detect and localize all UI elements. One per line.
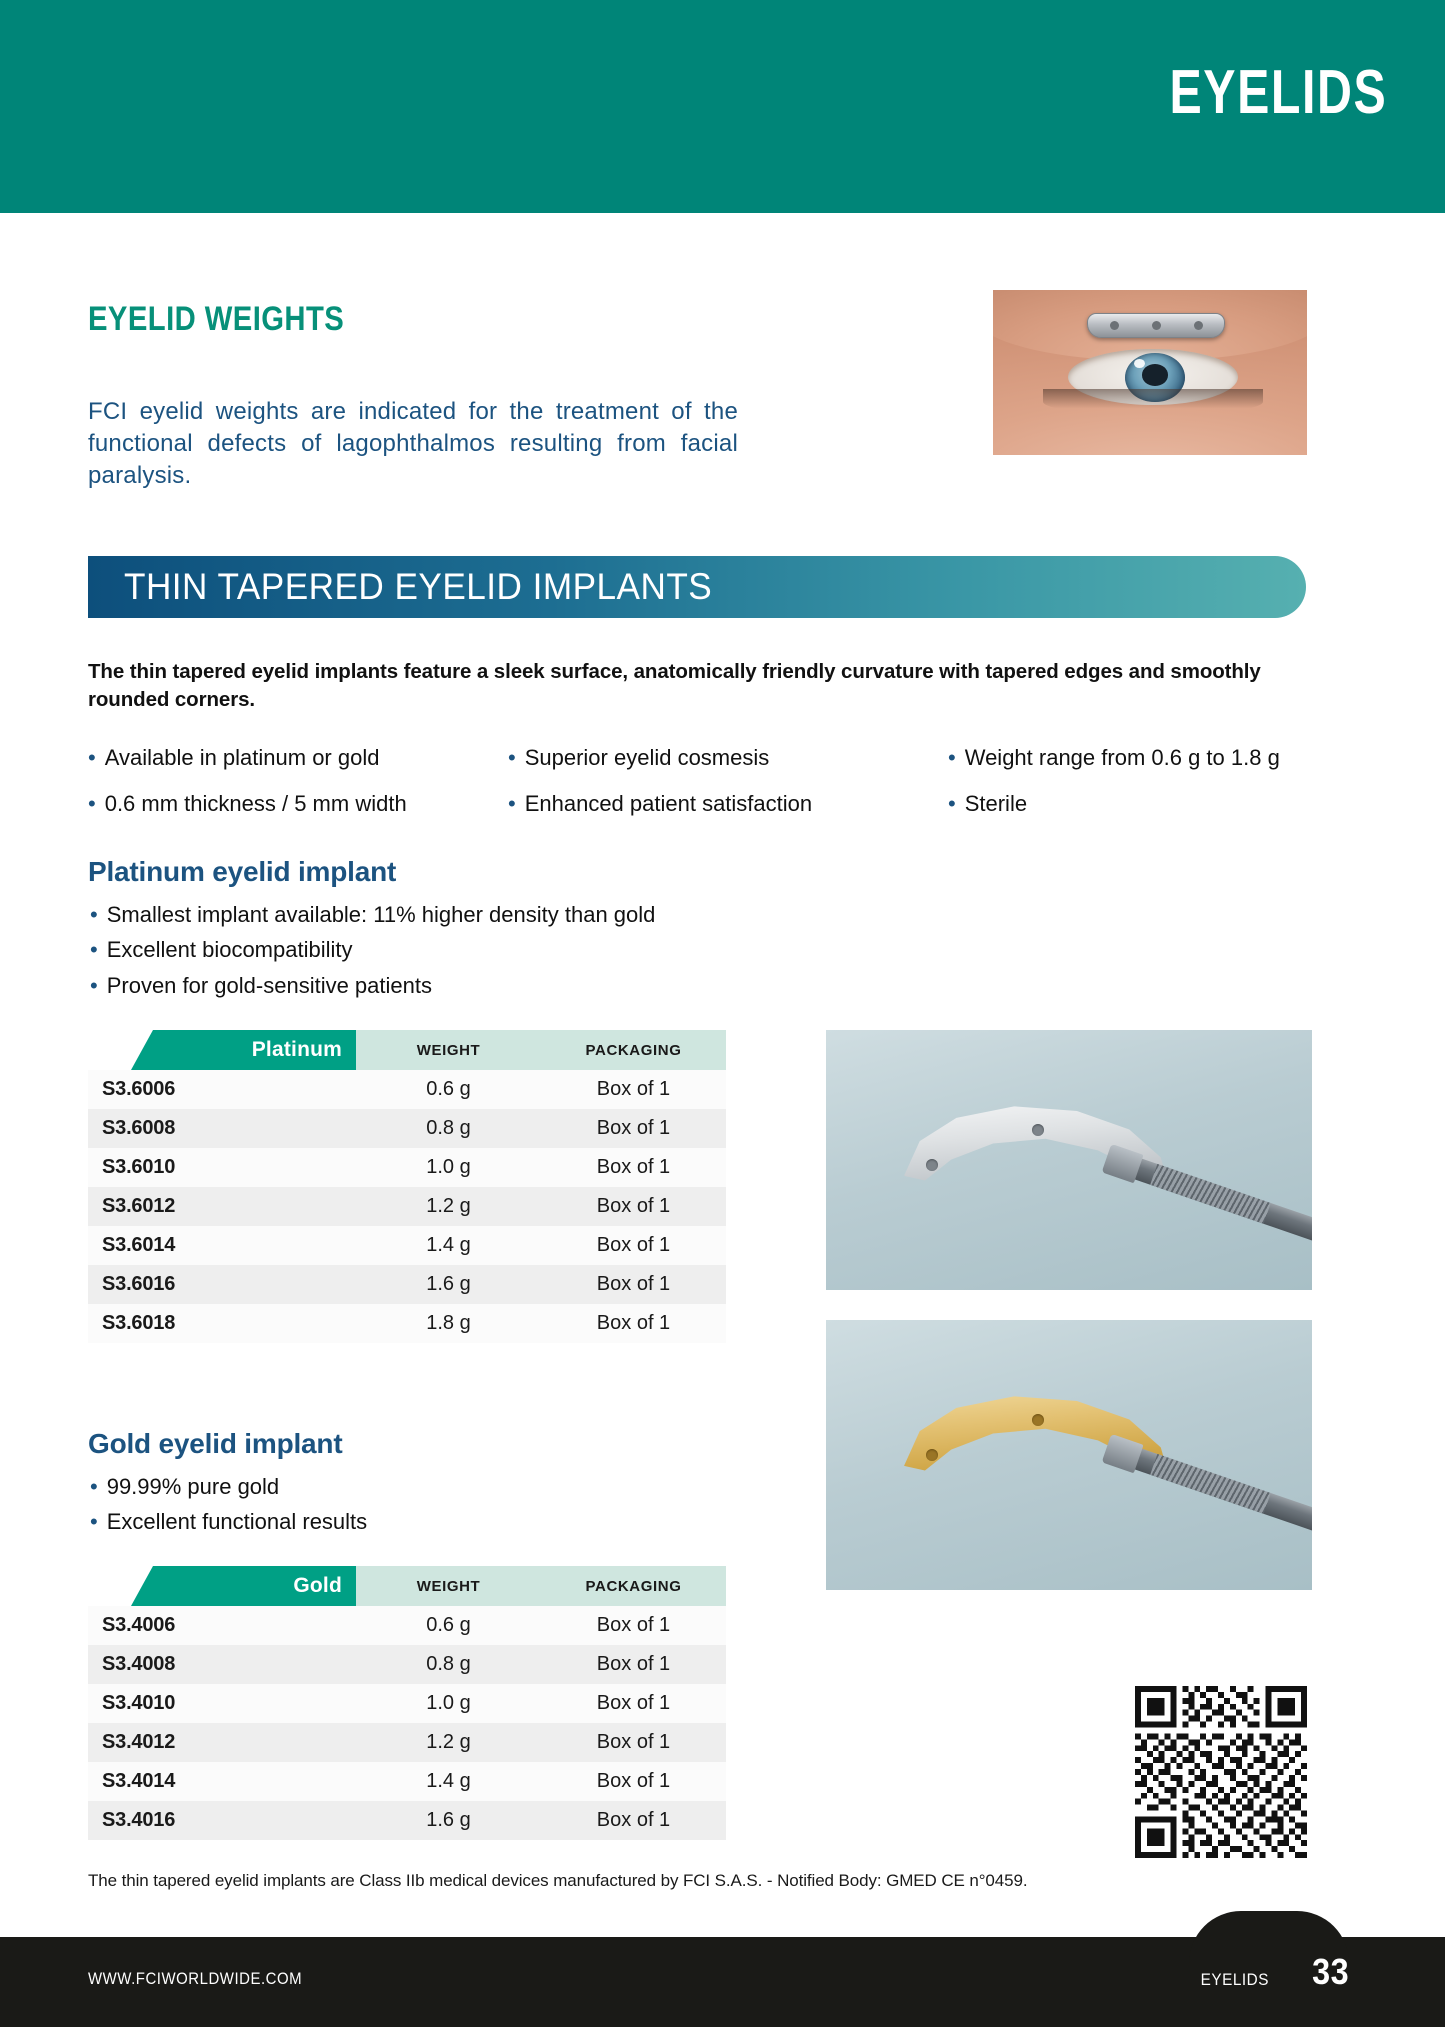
cell-reference: S3.6014: [88, 1226, 356, 1265]
cell-packaging: Box of 1: [541, 1723, 726, 1762]
platinum-brand-tab: Platinum: [88, 1030, 356, 1070]
cell-packaging: Box of 1: [541, 1645, 726, 1684]
table-row: S3.4006 0.6 g Box of 1: [88, 1606, 726, 1645]
platinum-bullet-list: • Smallest implant available: 11% higher…: [90, 902, 655, 1008]
list-item: • Excellent functional results: [90, 1509, 367, 1535]
feature-item: • Enhanced patient satisfaction: [508, 791, 948, 817]
product-lead-paragraph: The thin tapered eyelid implants feature…: [88, 658, 1310, 714]
cell-packaging: Box of 1: [541, 1684, 726, 1723]
implant-hole: [1194, 321, 1203, 330]
cell-weight: 0.8 g: [356, 1645, 541, 1684]
cell-reference: S3.6006: [88, 1070, 356, 1109]
cell-packaging: Box of 1: [541, 1148, 726, 1187]
table-row: S3.6010 1.0 g Box of 1: [88, 1148, 726, 1187]
table-row: S3.4016 1.6 g Box of 1: [88, 1801, 726, 1840]
list-item-label: Smallest implant available: 11% higher d…: [107, 902, 656, 928]
platinum-product-table: Platinum WEIGHT PACKAGING S3.6006 0.6 g …: [88, 1030, 726, 1343]
gold-product-table: Gold WEIGHT PACKAGING S3.4006 0.6 g Box …: [88, 1566, 726, 1840]
product-feature-list: • Available in platinum or gold • Superi…: [88, 745, 1313, 818]
cell-reference: S3.4016: [88, 1801, 356, 1840]
list-item-label: Excellent functional results: [107, 1509, 367, 1535]
footer-section-label: EYELIDS: [1201, 1970, 1269, 1990]
product-banner: THIN TAPERED EYELID IMPLANTS: [88, 556, 1306, 618]
forceps-grip: [1150, 1454, 1271, 1514]
feature-item: • Superior eyelid cosmesis: [508, 745, 948, 771]
regulatory-footnote: The thin tapered eyelid implants are Cla…: [88, 1871, 1238, 1891]
gold-brand-tab: Gold: [88, 1566, 356, 1606]
table-row: S3.6018 1.8 g Box of 1: [88, 1304, 726, 1343]
forceps-icon: [1116, 1430, 1312, 1557]
column-header-weight: WEIGHT: [356, 1030, 541, 1070]
feature-label: Weight range from 0.6 g to 1.8 g: [965, 745, 1280, 771]
footer-page-number: 33: [1312, 1951, 1349, 1993]
implant-hole: [926, 1449, 938, 1461]
feature-label: Superior eyelid cosmesis: [525, 745, 770, 771]
cell-packaging: Box of 1: [541, 1226, 726, 1265]
gold-heading: Gold eyelid implant: [88, 1428, 342, 1460]
cell-packaging: Box of 1: [541, 1187, 726, 1226]
page-footer: WWW.FCIWORLDWIDE.COM EYELIDS 33: [0, 1937, 1445, 2027]
feature-label: Sterile: [965, 791, 1027, 817]
bullet-icon: •: [90, 937, 98, 962]
table-row: S3.6006 0.6 g Box of 1: [88, 1070, 726, 1109]
cell-packaging: Box of 1: [541, 1801, 726, 1840]
cell-packaging: Box of 1: [541, 1265, 726, 1304]
bullet-icon: •: [90, 1474, 98, 1499]
list-item: • Proven for gold-sensitive patients: [90, 973, 655, 999]
list-item: • Smallest implant available: 11% higher…: [90, 902, 655, 928]
bullet-icon: •: [948, 745, 956, 770]
implant-hole: [1032, 1414, 1044, 1426]
cell-weight: 1.4 g: [356, 1226, 541, 1265]
cell-packaging: Box of 1: [541, 1109, 726, 1148]
cell-weight: 0.6 g: [356, 1070, 541, 1109]
bullet-icon: •: [90, 1509, 98, 1534]
table-header-row: Gold WEIGHT PACKAGING: [88, 1566, 726, 1606]
section-title-eyelid-weights: EYELID WEIGHTS: [88, 300, 344, 339]
platinum-heading: Platinum eyelid implant: [88, 856, 396, 888]
list-item-label: Excellent biocompatibility: [107, 937, 353, 963]
gold-bullet-list: • 99.99% pure gold • Excellent functiona…: [90, 1474, 367, 1545]
table-row: S3.4012 1.2 g Box of 1: [88, 1723, 726, 1762]
cell-weight: 1.0 g: [356, 1684, 541, 1723]
bullet-icon: •: [948, 791, 956, 816]
cell-weight: 1.2 g: [356, 1723, 541, 1762]
feature-label: Available in platinum or gold: [105, 745, 380, 771]
cell-weight: 1.2 g: [356, 1187, 541, 1226]
table-row: S3.6012 1.2 g Box of 1: [88, 1187, 726, 1226]
list-item: • Excellent biocompatibility: [90, 937, 655, 963]
table-row: S3.4014 1.4 g Box of 1: [88, 1762, 726, 1801]
list-item: • 99.99% pure gold: [90, 1474, 367, 1500]
cell-weight: 1.8 g: [356, 1304, 541, 1343]
bullet-icon: •: [508, 745, 516, 770]
forceps-grip: [1150, 1164, 1271, 1224]
bullet-icon: •: [90, 973, 98, 998]
cell-reference: S3.6012: [88, 1187, 356, 1226]
table-header-row: Platinum WEIGHT PACKAGING: [88, 1030, 726, 1070]
brand-tab-label: Gold: [293, 1574, 356, 1598]
cell-reference: S3.4010: [88, 1684, 356, 1723]
list-item-label: 99.99% pure gold: [107, 1474, 279, 1500]
eye-pupil: [1142, 364, 1168, 385]
cell-packaging: Box of 1: [541, 1070, 726, 1109]
cell-reference: S3.4014: [88, 1762, 356, 1801]
implant-hole: [1152, 321, 1161, 330]
feature-item: • 0.6 mm thickness / 5 mm width: [88, 791, 508, 817]
qr-code-icon[interactable]: [1135, 1686, 1307, 1858]
feature-item: • Available in platinum or gold: [88, 745, 508, 771]
cell-weight: 0.8 g: [356, 1109, 541, 1148]
table-row: S3.6016 1.6 g Box of 1: [88, 1265, 726, 1304]
cell-reference: S3.4008: [88, 1645, 356, 1684]
list-item-label: Proven for gold-sensitive patients: [107, 973, 432, 999]
footer-website-url[interactable]: WWW.FCIWORLDWIDE.COM: [88, 1969, 302, 1989]
cell-weight: 1.4 g: [356, 1762, 541, 1801]
eyelid-weight-implant-on-lid: [1087, 313, 1225, 338]
implant-hole: [926, 1159, 938, 1171]
cell-weight: 1.0 g: [356, 1148, 541, 1187]
cell-reference: S3.4012: [88, 1723, 356, 1762]
bullet-icon: •: [88, 791, 96, 816]
bullet-icon: •: [90, 902, 98, 927]
table-row: S3.6014 1.4 g Box of 1: [88, 1226, 726, 1265]
bullet-icon: •: [88, 745, 96, 770]
cell-reference: S3.6018: [88, 1304, 356, 1343]
cell-reference: S3.6016: [88, 1265, 356, 1304]
implant-hole: [1110, 321, 1119, 330]
cell-weight: 0.6 g: [356, 1606, 541, 1645]
cell-weight: 1.6 g: [356, 1265, 541, 1304]
feature-item: • Weight range from 0.6 g to 1.8 g: [948, 745, 1313, 771]
table-row: S3.4010 1.0 g Box of 1: [88, 1684, 726, 1723]
cell-reference: S3.4006: [88, 1606, 356, 1645]
page-header-band: EYELIDS: [0, 0, 1445, 213]
cell-reference: S3.6010: [88, 1148, 356, 1187]
eye-photo: [993, 290, 1307, 455]
cell-packaging: Box of 1: [541, 1606, 726, 1645]
column-header-packaging: PACKAGING: [541, 1566, 726, 1606]
implant-hole: [1032, 1124, 1044, 1136]
column-header-packaging: PACKAGING: [541, 1030, 726, 1070]
cell-packaging: Box of 1: [541, 1304, 726, 1343]
bullet-icon: •: [508, 791, 516, 816]
cell-weight: 1.6 g: [356, 1801, 541, 1840]
column-header-weight: WEIGHT: [356, 1566, 541, 1606]
catalog-page: EYELIDS EYELID WEIGHTS FCI eyelid weight…: [0, 0, 1445, 2027]
cell-reference: S3.6008: [88, 1109, 356, 1148]
cell-packaging: Box of 1: [541, 1762, 726, 1801]
gold-implant-photo: [826, 1320, 1312, 1590]
feature-label: Enhanced patient satisfaction: [525, 791, 812, 817]
intro-paragraph: FCI eyelid weights are indicated for the…: [88, 396, 738, 492]
feature-label: 0.6 mm thickness / 5 mm width: [105, 791, 407, 817]
table-row: S3.6008 0.8 g Box of 1: [88, 1109, 726, 1148]
table-row: S3.4008 0.8 g Box of 1: [88, 1645, 726, 1684]
product-banner-title: THIN TAPERED EYELID IMPLANTS: [124, 566, 712, 608]
platinum-implant-photo: [826, 1030, 1312, 1290]
forceps-icon: [1116, 1140, 1312, 1267]
brand-tab-label: Platinum: [252, 1038, 356, 1062]
feature-item: • Sterile: [948, 791, 1313, 817]
page-header-title: EYELIDS: [1169, 62, 1387, 124]
